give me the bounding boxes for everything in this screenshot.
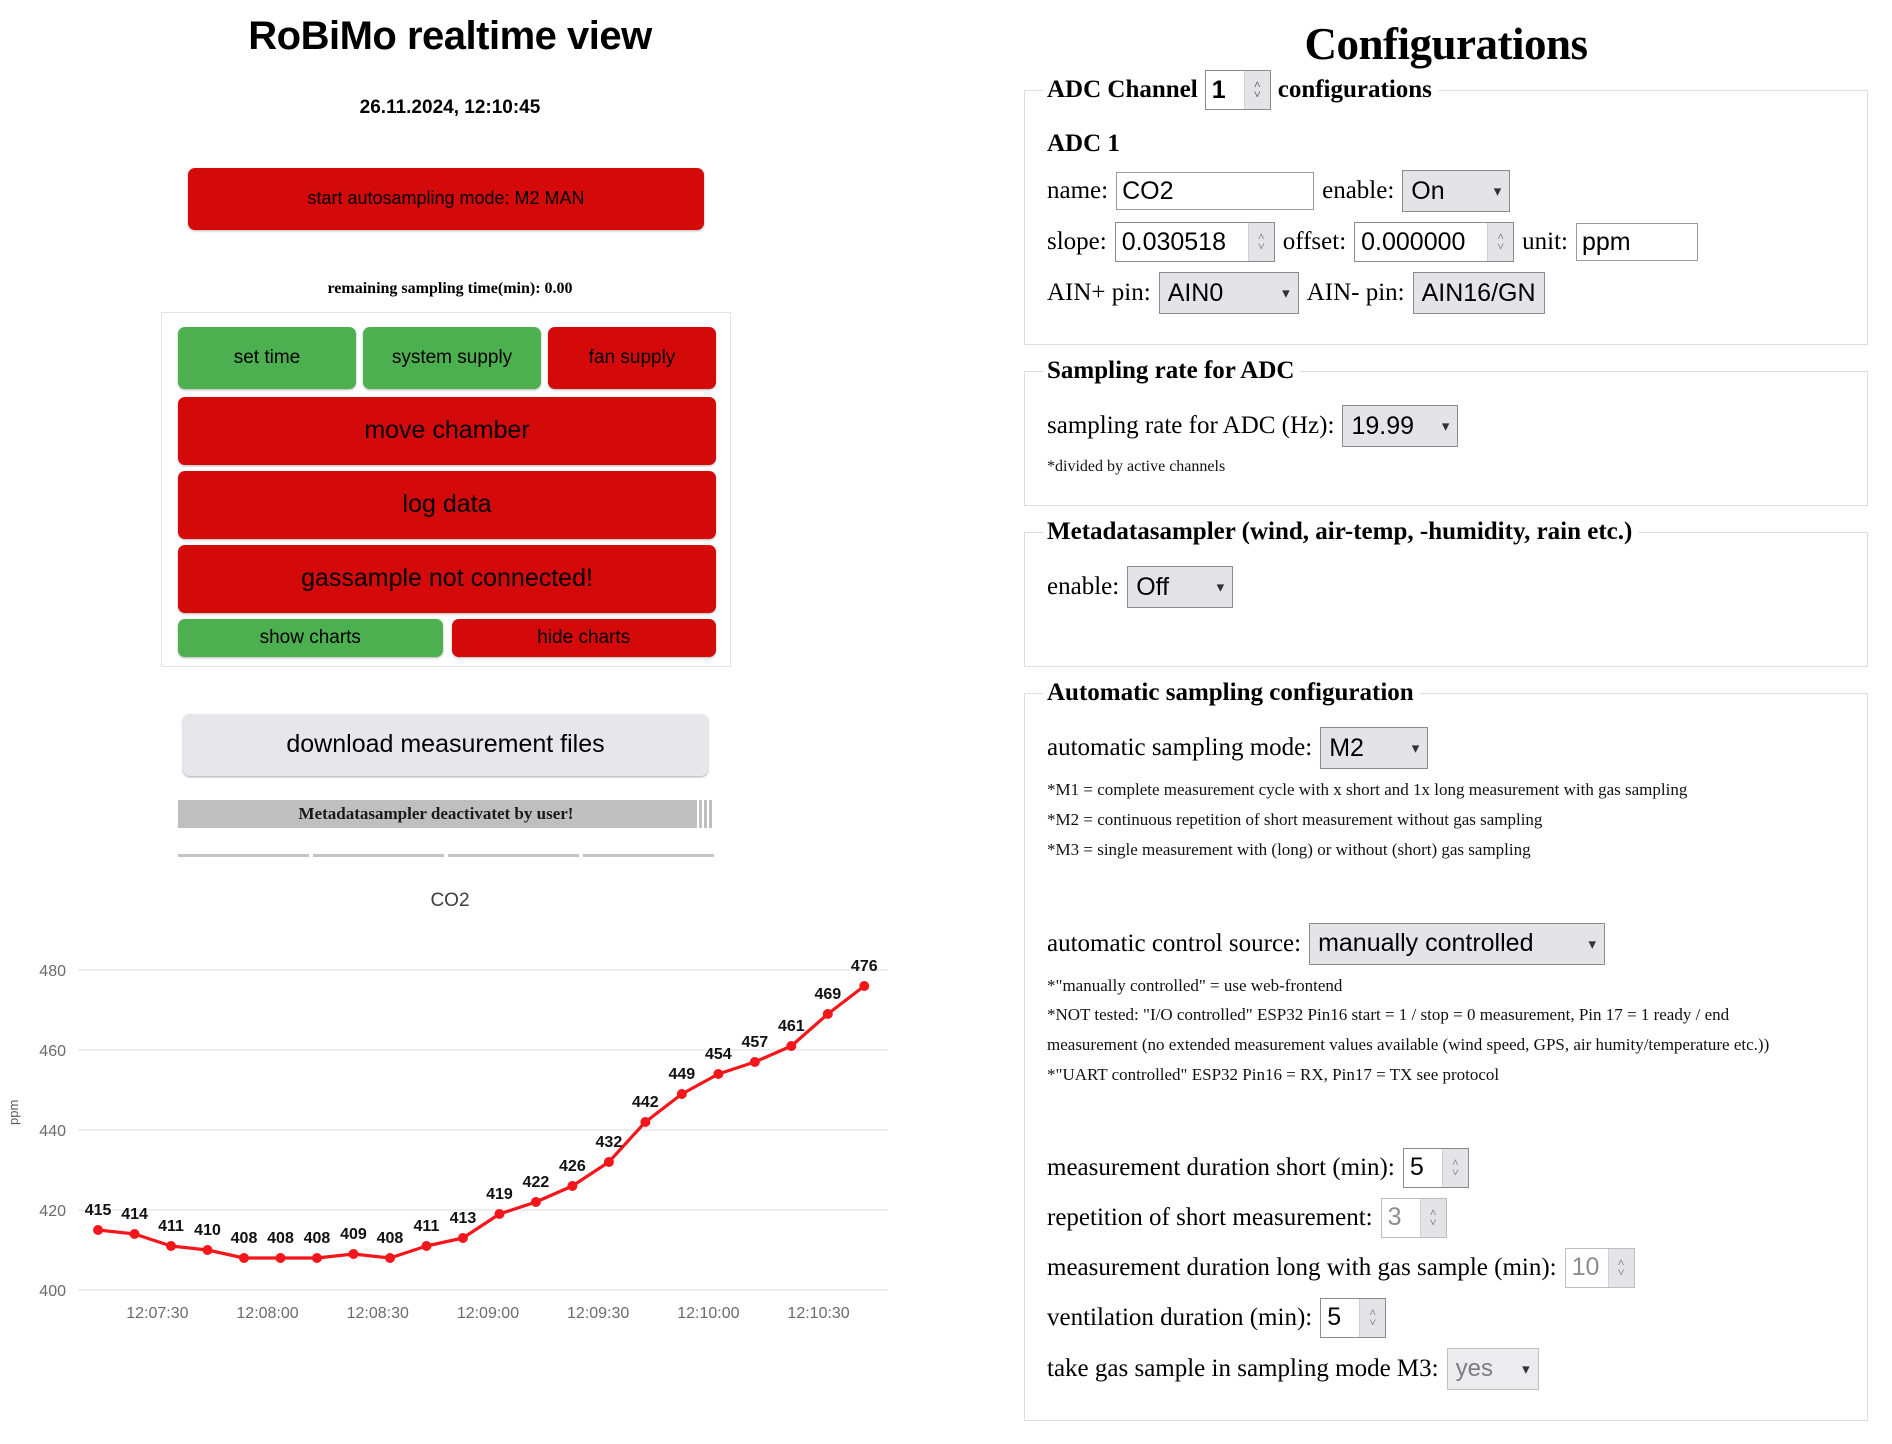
realtime-view-panel: RoBiMo realtime view 26.11.2024, 12:10:4… (0, 0, 900, 1444)
stepper-arrows-icon[interactable]: ^˅ (1420, 1199, 1446, 1237)
stepper-arrows-icon[interactable]: ^˅ (1248, 223, 1274, 261)
chevron-down-icon: ▾ (1217, 578, 1225, 596)
data-point (750, 1057, 760, 1067)
data-label: 469 (814, 986, 841, 1003)
gas-sample-m3-row: take gas sample in sampling mode M3: yes… (1047, 1348, 1849, 1390)
control-source-row: automatic control source: manually contr… (1047, 923, 1849, 965)
configurations-title: Configurations (1000, 18, 1892, 70)
sampling-rate-select[interactable]: 19.99 ▾ (1342, 405, 1458, 447)
fan-supply-button[interactable]: fan supply (548, 327, 716, 389)
duration-short-stepper[interactable]: 5 ^˅ (1403, 1148, 1469, 1188)
name-label: name: (1047, 177, 1108, 205)
data-point (130, 1229, 140, 1239)
data-label: 413 (450, 1210, 477, 1227)
sampling-rate-label: sampling rate for ADC (Hz): (1047, 412, 1334, 440)
gassample-status-button[interactable]: gassample not connected! (178, 545, 716, 613)
metadatasampler-enable-value: Off (1136, 573, 1169, 602)
start-autosampling-button[interactable]: start autosampling mode: M2 MAN (188, 168, 704, 230)
control-row-top: set time system supply fan supply (178, 327, 716, 389)
progress-stripes-icon (694, 800, 714, 828)
automatic-sampling-section: Automatic sampling configuration automat… (1024, 679, 1868, 1420)
sampling-mode-value: M2 (1329, 734, 1364, 763)
ainminus-pin-select[interactable]: AIN16/GN ▾ (1413, 272, 1545, 314)
sampling-rate-legend: Sampling rate for ADC (1043, 357, 1300, 385)
spacer (1043, 869, 1849, 913)
chevron-down-icon: ▾ (1589, 935, 1597, 953)
metadatasampler-status-text: Metadatasampler deactivatet by user! (178, 804, 694, 824)
separator-segment (313, 854, 444, 857)
adc-channel-legend-suffix: configurations (1278, 76, 1432, 104)
mode-note-m3: *M3 = single measurement with (long) or … (1047, 839, 1849, 861)
adc-channel-value: 1 (1206, 71, 1244, 109)
ainminus-pin-value: AIN16/GN (1422, 279, 1536, 308)
data-label: 449 (668, 1066, 695, 1083)
data-label: 419 (486, 1186, 513, 1203)
data-point (166, 1241, 176, 1251)
spacer (1043, 618, 1849, 646)
adc-offset-value: 0.000000 (1355, 223, 1487, 261)
control-source-label: automatic control source: (1047, 930, 1301, 958)
page-title: RoBiMo realtime view (0, 14, 900, 59)
stepper-arrows-icon[interactable]: ^˅ (1359, 1299, 1385, 1337)
data-point (677, 1089, 687, 1099)
metadatasampler-legend: Metadatasampler (wind, air-temp, -humidi… (1043, 518, 1638, 546)
download-measurement-files-button[interactable]: download measurement files (183, 714, 708, 776)
set-time-button[interactable]: set time (178, 327, 356, 389)
data-point (421, 1241, 431, 1251)
gas-sample-m3-value: yes (1456, 1355, 1493, 1383)
stepper-arrows-icon[interactable]: ^˅ (1244, 71, 1270, 109)
ventilation-duration-label: ventilation duration (min): (1047, 1304, 1312, 1332)
gas-sample-m3-label: take gas sample in sampling mode M3: (1047, 1355, 1439, 1383)
sampling-rate-row: sampling rate for ADC (Hz): 19.99 ▾ (1047, 405, 1849, 447)
duration-long-row: measurement duration long with gas sampl… (1047, 1248, 1849, 1288)
control-source-select[interactable]: manually controlled ▾ (1309, 923, 1605, 965)
separator-segment (448, 854, 579, 857)
adc-unit-input[interactable] (1576, 223, 1698, 261)
duration-short-row: measurement duration short (min): 5 ^˅ (1047, 1148, 1849, 1188)
chevron-down-icon: ▾ (1522, 1360, 1530, 1378)
configurations-panel: Configurations ADC Channel 1 ^˅ configur… (1000, 0, 1892, 1444)
data-point (348, 1249, 358, 1259)
data-point (567, 1181, 577, 1191)
data-label: 414 (121, 1206, 148, 1223)
adc-subheading: ADC 1 (1047, 130, 1849, 158)
ainplus-pin-value: AIN0 (1168, 279, 1224, 308)
control-source-value: manually controlled (1318, 929, 1533, 958)
data-label: 454 (705, 1046, 732, 1063)
unit-label: unit: (1522, 228, 1568, 256)
chevron-down-icon: ▾ (1442, 417, 1450, 435)
show-charts-button[interactable]: show charts (178, 619, 443, 657)
repetition-short-value: 3 (1382, 1199, 1420, 1237)
ainplus-pin-select[interactable]: AIN0 ▾ (1159, 272, 1299, 314)
data-point (385, 1253, 395, 1263)
source-note-2: *NOT tested: "I/O controlled" ESP32 Pin1… (1047, 1004, 1849, 1026)
duration-short-label: measurement duration short (min): (1047, 1154, 1395, 1182)
duration-short-value: 5 (1404, 1149, 1442, 1187)
adc-name-input[interactable] (1116, 172, 1314, 210)
ventilation-duration-stepper[interactable]: 5 ^˅ (1320, 1298, 1386, 1338)
x-tick-label: 12:10:30 (787, 1305, 849, 1322)
y-tick-label: 480 (39, 963, 66, 980)
y-tick-label: 440 (39, 1123, 66, 1140)
data-label: 442 (632, 1094, 659, 1111)
separator-segment (583, 854, 714, 857)
metadatasampler-enable-label: enable: (1047, 573, 1119, 601)
source-note-1: *"manually controlled" = use web-fronten… (1047, 975, 1849, 997)
automatic-sampling-legend: Automatic sampling configuration (1043, 679, 1420, 707)
data-point (823, 1009, 833, 1019)
hide-charts-button[interactable]: hide charts (452, 619, 717, 657)
adc-enable-select[interactable]: On ▾ (1402, 170, 1510, 212)
data-point (531, 1197, 541, 1207)
source-note-4: *"UART controlled" ESP32 Pin16 = RX, Pin… (1047, 1064, 1849, 1086)
data-label: 457 (741, 1034, 768, 1051)
data-label: 411 (158, 1218, 184, 1235)
x-tick-label: 12:08:00 (236, 1305, 298, 1322)
data-point (93, 1225, 103, 1235)
data-label: 409 (340, 1226, 367, 1243)
chevron-down-icon: ▾ (1282, 284, 1290, 302)
stepper-arrows-icon[interactable]: ^˅ (1608, 1249, 1634, 1287)
timestamp-label: 26.11.2024, 12:10:45 (0, 97, 900, 119)
data-label: 476 (851, 958, 878, 975)
data-point (203, 1245, 213, 1255)
chevron-down-icon: ▾ (1412, 739, 1420, 757)
ainminus-pin-label: AIN- pin: (1307, 279, 1405, 307)
data-label: 408 (377, 1230, 404, 1247)
source-note-3: measurement (no extended measurement val… (1047, 1034, 1849, 1056)
data-label: 408 (304, 1230, 331, 1247)
data-point (239, 1253, 249, 1263)
adc-slope-row: slope: 0.030518 ^˅ offset: 0.000000 ^˅ u… (1047, 222, 1849, 262)
data-label: 408 (231, 1230, 258, 1247)
adc-enable-value: On (1411, 177, 1444, 206)
adc-slope-value: 0.030518 (1116, 223, 1248, 261)
data-point (276, 1253, 286, 1263)
move-chamber-button[interactable]: move chamber (178, 397, 716, 465)
data-point (640, 1117, 650, 1127)
mode-note-m1: *M1 = complete measurement cycle with x … (1047, 779, 1849, 801)
data-label: 415 (85, 1202, 112, 1219)
mode-note-m2: *M2 = continuous repetition of short mea… (1047, 809, 1849, 831)
data-label: 410 (194, 1222, 221, 1239)
adc-offset-stepper[interactable]: 0.000000 ^˅ (1354, 222, 1514, 262)
chevron-down-icon: ▾ (1494, 182, 1502, 200)
ventilation-duration-row: ventilation duration (min): 5 ^˅ (1047, 1298, 1849, 1338)
duration-long-value: 10 (1566, 1249, 1608, 1287)
stepper-arrows-icon[interactable]: ^˅ (1487, 223, 1513, 261)
data-label: 422 (523, 1174, 550, 1191)
data-label: 408 (267, 1230, 294, 1247)
sampling-mode-label: automatic sampling mode: (1047, 734, 1312, 762)
gas-sample-m3-select[interactable]: yes ▾ (1447, 1348, 1539, 1390)
control-panel: set time system supply fan supply move c… (161, 312, 731, 667)
app-root: RoBiMo realtime view 26.11.2024, 12:10:4… (0, 0, 1892, 1444)
metadatasampler-status-bar: Metadatasampler deactivatet by user! (178, 800, 714, 828)
offset-label: offset: (1283, 228, 1346, 256)
y-tick-label: 460 (39, 1043, 66, 1060)
repetition-short-row: repetition of short measurement: 3 ^˅ (1047, 1198, 1849, 1238)
duration-long-stepper[interactable]: 10 ^˅ (1565, 1248, 1635, 1288)
metadatasampler-enable-select[interactable]: Off ▾ (1127, 566, 1233, 608)
spacer (1043, 1094, 1849, 1138)
repetition-short-label: repetition of short measurement: (1047, 1204, 1373, 1232)
slope-label: slope: (1047, 228, 1107, 256)
data-point (859, 981, 869, 991)
x-tick-label: 12:09:30 (567, 1305, 629, 1322)
metadatasampler-section: Metadatasampler (wind, air-temp, -humidi… (1024, 518, 1868, 667)
remaining-sampling-time-label: remaining sampling time(min): 0.00 (0, 280, 900, 298)
adc-pins-row: AIN+ pin: AIN0 ▾ AIN- pin: AIN16/GN ▾ (1047, 272, 1849, 314)
y-tick-label: 400 (39, 1283, 66, 1300)
y-tick-label: 420 (39, 1203, 66, 1220)
co2-chart: CO2 ppm 40042044046048012:07:3012:08:001… (0, 880, 900, 1440)
data-point (786, 1041, 796, 1051)
x-tick-label: 12:09:00 (457, 1305, 519, 1322)
system-supply-button[interactable]: system supply (363, 327, 541, 389)
repetition-short-stepper[interactable]: 3 ^˅ (1381, 1198, 1447, 1238)
x-tick-label: 12:10:00 (677, 1305, 739, 1322)
chart-plot-area: 40042044046048012:07:3012:08:0012:08:301… (0, 880, 900, 1440)
adc-channel-stepper[interactable]: 1 ^˅ (1205, 70, 1271, 110)
sampling-mode-row: automatic sampling mode: M2 ▾ (1047, 727, 1849, 769)
log-data-button[interactable]: log data (178, 471, 716, 539)
adc-channel-legend: ADC Channel 1 ^˅ configurations (1043, 70, 1438, 110)
duration-long-label: measurement duration long with gas sampl… (1047, 1254, 1557, 1282)
ventilation-duration-value: 5 (1321, 1299, 1359, 1337)
stepper-arrows-icon[interactable]: ^˅ (1442, 1149, 1468, 1187)
sampling-mode-select[interactable]: M2 ▾ (1320, 727, 1428, 769)
data-label: 461 (778, 1018, 805, 1035)
data-point (604, 1157, 614, 1167)
data-point (312, 1253, 322, 1263)
adc-channel-section: ADC Channel 1 ^˅ configurations ADC 1 na… (1024, 70, 1868, 345)
separator-segment (178, 854, 309, 857)
sampling-rate-value: 19.99 (1351, 412, 1414, 441)
data-point (458, 1233, 468, 1243)
data-point (713, 1069, 723, 1079)
x-tick-label: 12:07:30 (126, 1305, 188, 1322)
ainplus-pin-label: AIN+ pin: (1047, 279, 1151, 307)
separator-row (178, 854, 714, 857)
x-tick-label: 12:08:30 (347, 1305, 409, 1322)
data-label: 426 (559, 1158, 586, 1175)
data-label: 411 (414, 1218, 440, 1235)
data-label: 432 (596, 1134, 623, 1151)
sampling-rate-note: *divided by active channels (1047, 457, 1849, 477)
sampling-rate-section: Sampling rate for ADC sampling rate for … (1024, 357, 1868, 506)
adc-name-row: name: enable: On ▾ (1047, 170, 1849, 212)
metadatasampler-enable-row: enable: Off ▾ (1047, 566, 1849, 608)
adc-slope-stepper[interactable]: 0.030518 ^˅ (1115, 222, 1275, 262)
control-row-charts: show charts hide charts (178, 619, 716, 657)
data-point (494, 1209, 504, 1219)
enable-label: enable: (1322, 177, 1394, 205)
adc-channel-legend-prefix: ADC Channel (1047, 76, 1198, 104)
